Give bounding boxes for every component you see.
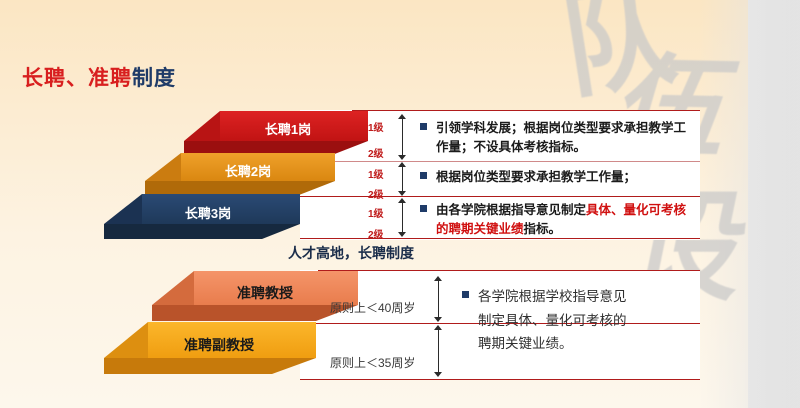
step-zhunpin-professor-label: 准聘教授 — [237, 283, 293, 303]
step-changpin-3-label: 长聘3岗 — [185, 203, 231, 222]
bullet-square-icon — [462, 291, 469, 298]
range-arrow-rank3 — [398, 198, 407, 237]
background-gray-fade — [700, 0, 800, 408]
bullet-rank3-text: 由各学院根据指导意见制定具体、量化可考核的聘期关键业绩指标。 — [436, 201, 688, 240]
bottom-rule-1 — [318, 270, 700, 271]
page-title: 长聘、准聘制度 — [22, 62, 176, 92]
range-arrow-assoc-professor — [434, 325, 443, 377]
grade-rank2-level2: 2级 — [368, 186, 384, 201]
step-changpin-1-label: 长聘1岗 — [265, 119, 311, 138]
step-changpin-3: 长聘3岗 — [104, 194, 294, 240]
top-rule-2 — [300, 161, 700, 162]
bullet-rank2-text: 根据岗位类型要求承担教学工作量； — [436, 168, 636, 187]
section-caption: 人才高地，长聘制度 — [288, 243, 414, 263]
age-limit-assoc-professor: 原则上＜35周岁 — [330, 354, 415, 371]
bullet-rank1-text: 引领学科发展；根据岗位类型要求承担教学工作量；不设具体考核指标。 — [436, 119, 688, 158]
step-changpin-2-label: 长聘2岗 — [225, 161, 271, 180]
bullet-zhunpin-line2: 制定具体、量化可考核的 — [478, 309, 627, 333]
step-zhunpin-professor: 准聘教授 — [152, 271, 352, 325]
page-title-red: 长聘、准聘 — [22, 67, 132, 90]
bullet-rank2: 根据岗位类型要求承担教学工作量； — [420, 168, 688, 187]
bottom-rule-3 — [300, 379, 700, 380]
range-arrow-rank2 — [398, 162, 407, 196]
grade-rank3-level2: 2级 — [368, 226, 384, 241]
bullet-rank3-seg1: 由各学院根据指导意见制定 — [436, 203, 586, 217]
top-rule-3 — [300, 196, 700, 197]
age-limit-professor: 原则上＜40周岁 — [330, 299, 415, 316]
bullet-rank3-seg3: 指标。 — [524, 222, 562, 236]
grade-rank1-level1: 1级 — [368, 119, 384, 134]
page-title-blue: 制度 — [132, 67, 176, 90]
step-zhunpin-assoc-professor: 准聘副教授 — [104, 322, 310, 378]
bullet-zhunpin: 各学院根据学校指导意见 制定具体、量化可考核的 聘期关键业绩。 — [462, 285, 692, 356]
step-changpin-1: 长聘1岗 — [184, 111, 368, 155]
grade-rank3-level1: 1级 — [368, 205, 384, 220]
slide-canvas: 队 伍 建 设 长聘、准聘制度 长聘1岗 — [0, 0, 800, 408]
bullet-zhunpin-text: 各学院根据学校指导意见 制定具体、量化可考核的 聘期关键业绩。 — [478, 285, 627, 356]
range-arrow-professor — [434, 276, 443, 322]
bullet-square-icon — [420, 172, 427, 179]
bullet-rank1-seg1: 引领学科发展；根据岗位类型要求承担教学工作量；不设具体考核指标。 — [436, 121, 686, 154]
bullet-zhunpin-line3: 聘期关键业绩。 — [478, 332, 627, 356]
bullet-square-icon — [420, 205, 427, 212]
grade-rank2-level1: 1级 — [368, 166, 384, 181]
step-changpin-2: 长聘2岗 — [145, 153, 329, 197]
bullet-rank1: 引领学科发展；根据岗位类型要求承担教学工作量；不设具体考核指标。 — [420, 119, 688, 158]
bullet-zhunpin-line1: 各学院根据学校指导意见 — [478, 285, 627, 309]
bullet-rank2-seg1: 根据岗位类型要求承担教学工作量； — [436, 170, 636, 184]
bullet-square-icon — [420, 123, 427, 130]
step-zhunpin-assoc-professor-label: 准聘副教授 — [184, 335, 254, 355]
top-rule-1 — [352, 110, 700, 111]
range-arrow-rank1 — [398, 114, 407, 160]
bullet-rank3: 由各学院根据指导意见制定具体、量化可考核的聘期关键业绩指标。 — [420, 201, 688, 240]
grade-rank1-level2: 2级 — [368, 145, 384, 160]
